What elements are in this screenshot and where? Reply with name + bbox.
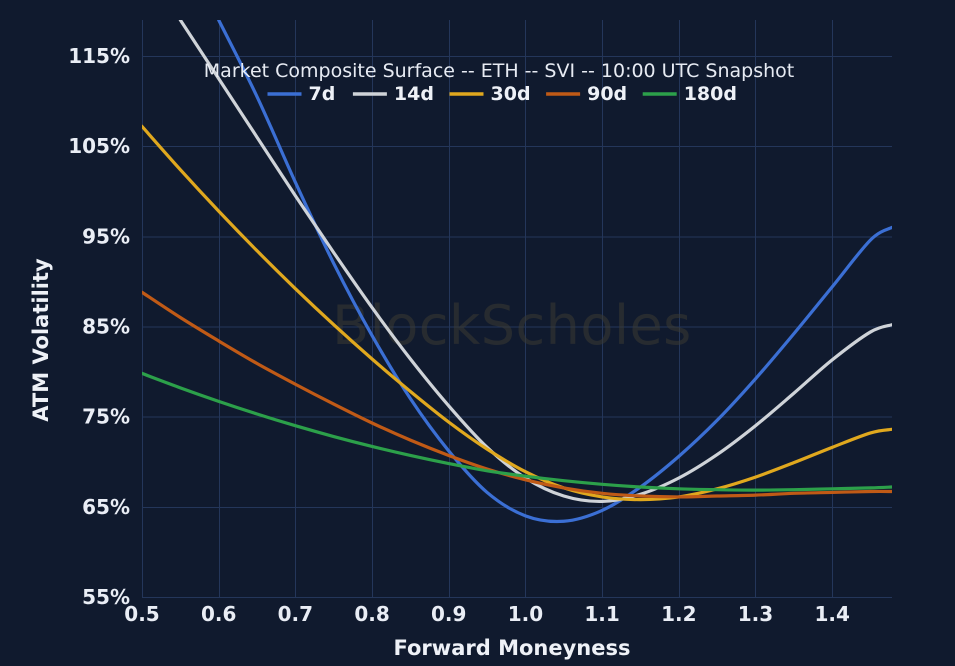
x-tick-label: 0.5	[124, 602, 159, 626]
x-tick-label: 0.7	[278, 602, 313, 626]
chart-title: Market Composite Surface -- ETH -- SVI -…	[204, 60, 794, 82]
x-axis-title: Forward Moneyness	[394, 636, 631, 660]
y-tick-label: 105%	[68, 134, 130, 158]
volatility-smile-chart: BlockScholes 55%65%75%85%95%105%115% 0.5…	[0, 0, 955, 666]
y-tick-label: 65%	[82, 495, 130, 519]
x-tick-label: 1.2	[661, 602, 696, 626]
x-tick-label: 1.0	[508, 602, 543, 626]
legend-label-180d[interactable]: 180d	[684, 83, 737, 105]
x-tick-label: 0.8	[354, 602, 389, 626]
x-tick-label: 1.4	[814, 602, 849, 626]
x-tick-label: 1.3	[738, 602, 773, 626]
y-tick-label: 95%	[82, 224, 130, 248]
chart-container: BlockScholes 55%65%75%85%95%105%115% 0.5…	[0, 0, 955, 666]
legend-label-14d[interactable]: 14d	[394, 83, 434, 105]
legend-label-90d[interactable]: 90d	[587, 83, 627, 105]
y-tick-label: 75%	[82, 405, 130, 429]
x-tick-label: 0.9	[431, 602, 466, 626]
x-tick-label: 1.1	[584, 602, 619, 626]
legend-label-30d[interactable]: 30d	[491, 83, 531, 105]
x-tick-label: 0.6	[201, 602, 236, 626]
y-axis-title: ATM Volatility	[29, 258, 53, 422]
y-tick-label: 115%	[68, 44, 130, 68]
y-tick-label: 55%	[82, 585, 130, 609]
legend-label-7d[interactable]: 7d	[309, 83, 336, 105]
y-tick-label: 85%	[82, 315, 130, 339]
